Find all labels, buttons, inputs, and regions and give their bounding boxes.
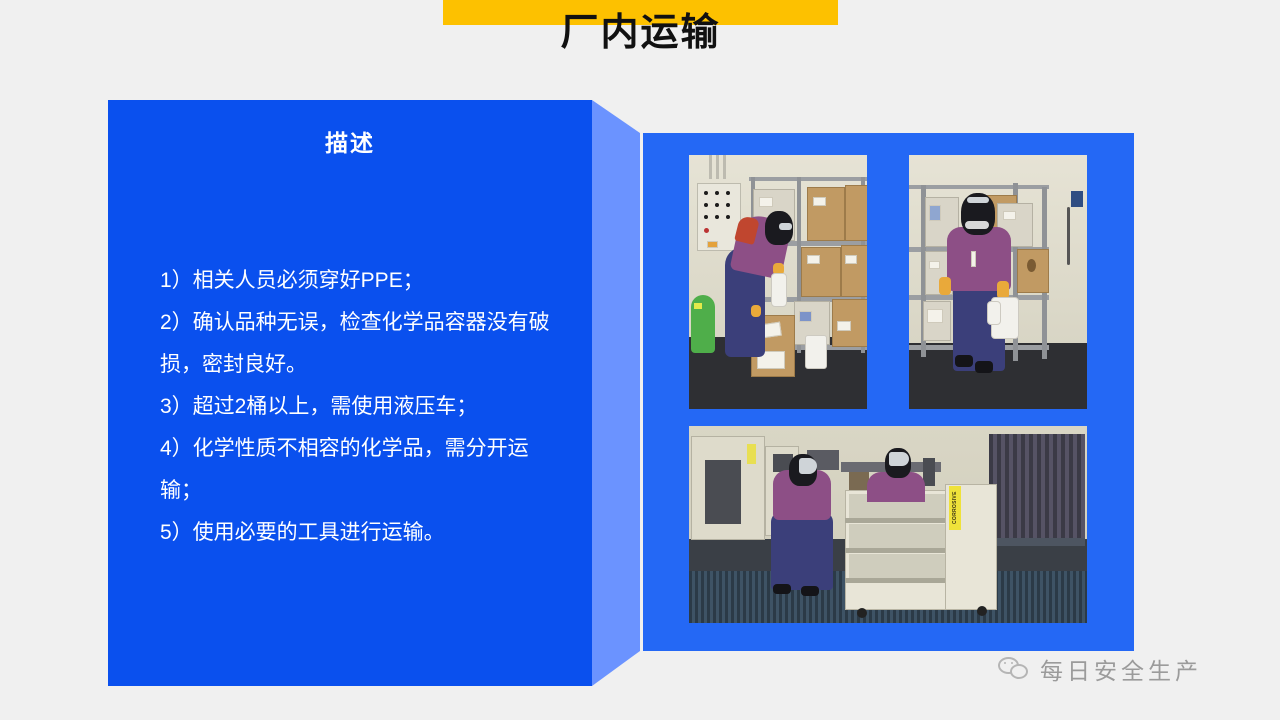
arrow-pointer-icon [592,100,640,686]
corrosive-label: CORROSIVE [949,486,961,530]
photo-two-workers-with-cart: CORROSIVE [689,426,1087,623]
description-heading: 描述 [108,124,592,158]
list-item: 1）相关人员必须穿好PPE； [160,260,570,302]
description-panel: 描述 1）相关人员必须穿好PPE； 2）确认品种无误，检查化学品容器没有破损，密… [108,100,592,686]
list-item: 4）化学性质不相容的化学品，需分开运输； [160,428,570,512]
photo-panel: CORROSIVE [643,133,1134,651]
watermark-text: 每日安全生产 [1040,652,1202,686]
photo-worker-labeling-boxes [689,155,867,409]
slide-canvas: 厂内运输 描述 1）相关人员必须穿好PPE； 2）确认品种无误，检查化学品容器没… [0,0,1280,720]
wechat-icon [998,656,1032,682]
description-list: 1）相关人员必须穿好PPE； 2）确认品种无误，检查化学品容器没有破损，密封良好… [160,260,570,554]
list-item: 2）确认品种无误，检查化学品容器没有破损，密封良好。 [160,302,570,386]
list-item: 5）使用必要的工具进行运输。 [160,512,570,554]
list-item: 3）超过2桶以上，需使用液压车； [160,386,570,428]
photo-worker-carrying-jug [909,155,1087,409]
page-title: 厂内运输 [443,0,838,58]
watermark: 每日安全生产 [998,652,1202,686]
